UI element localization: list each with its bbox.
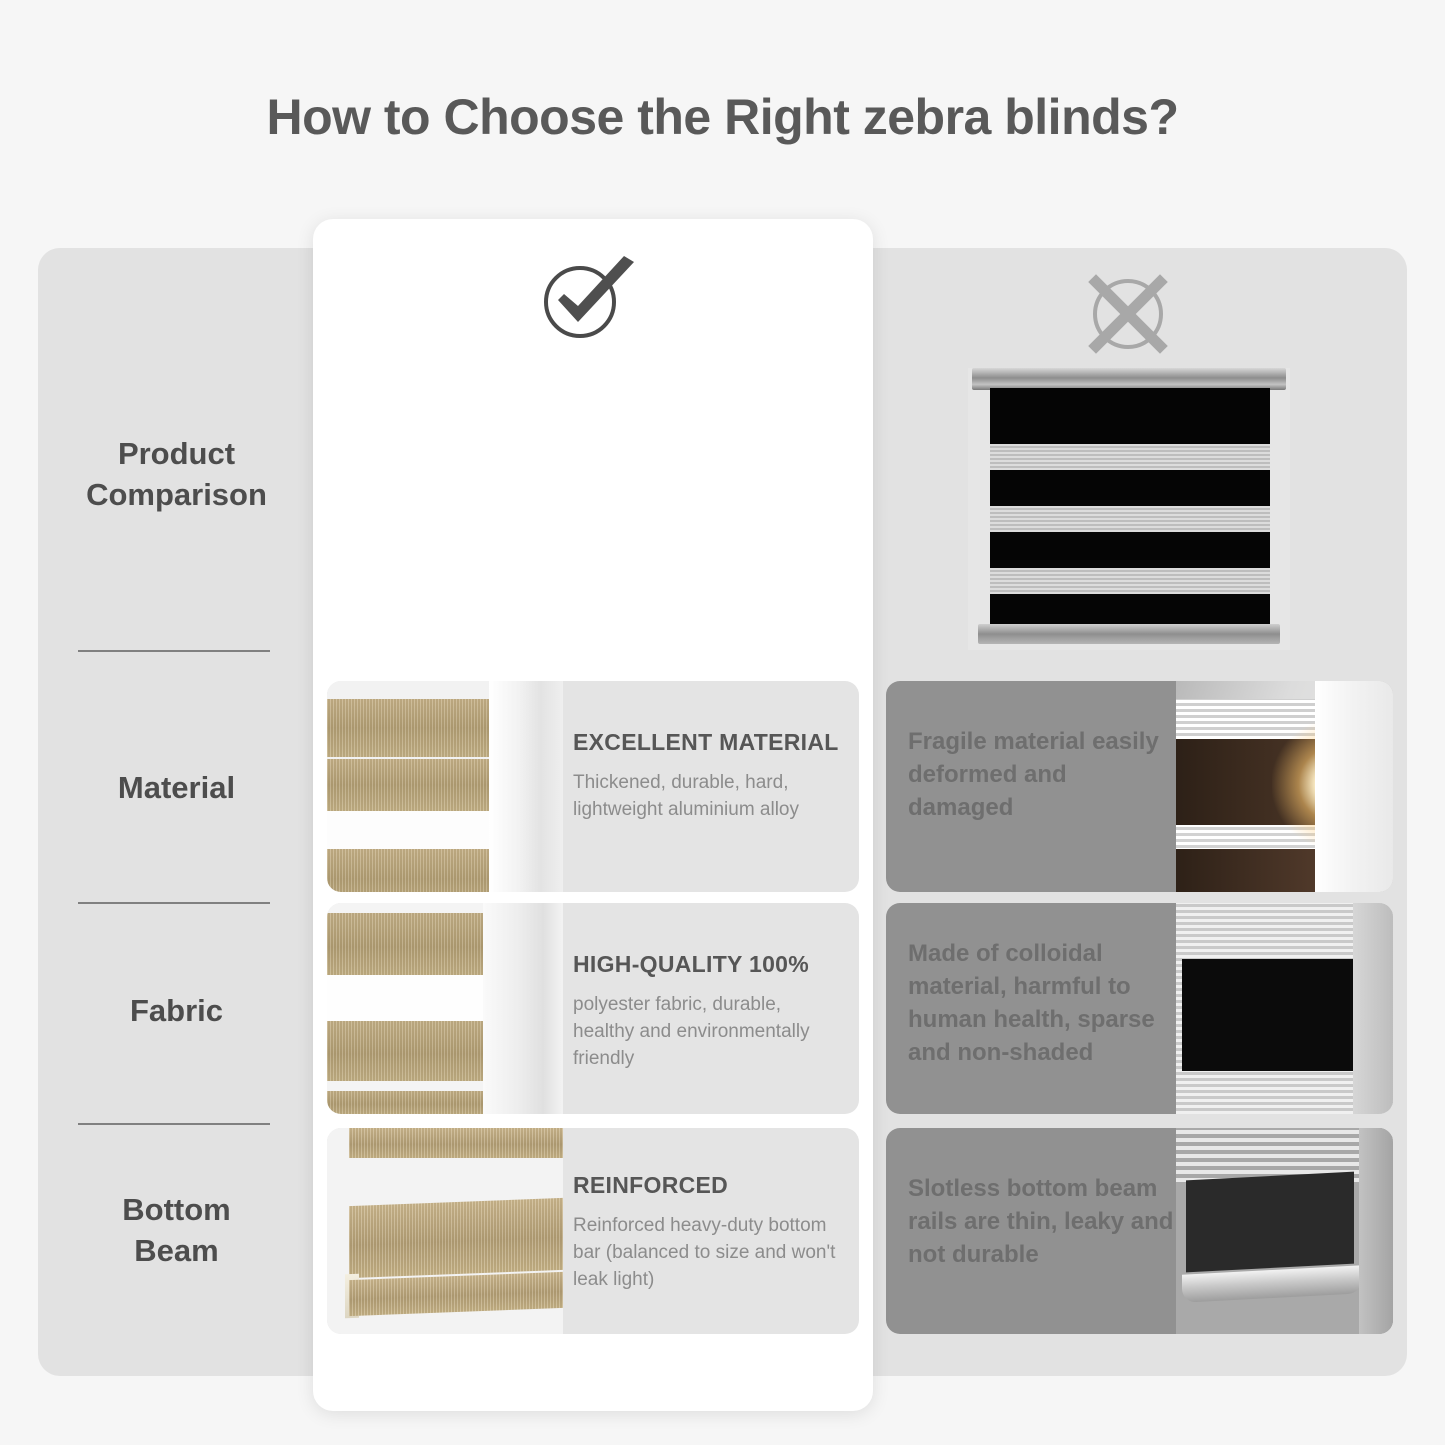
good-card-image — [327, 681, 563, 892]
bad-card-text: Made of colloidal material, harmful to h… — [908, 937, 1176, 1069]
bad-card-text: Slotless bottom beam rails are thin, lea… — [908, 1172, 1176, 1271]
row-label-fabric: Fabric — [38, 991, 315, 1032]
blind-sheer-band — [990, 444, 1270, 470]
bad-card-fabric: Made of colloidal material, harmful to h… — [886, 903, 1393, 1114]
good-card-heading: EXCELLENT MATERIAL — [573, 729, 841, 756]
page-title: How to Choose the Right zebra blinds? — [0, 88, 1445, 146]
row-divider — [78, 902, 270, 904]
row-divider — [78, 1123, 270, 1125]
row-label-line1: Material — [38, 768, 315, 809]
good-card-image — [327, 1128, 563, 1334]
row-label-line1: Fabric — [38, 991, 315, 1032]
row-label-line2: Beam — [38, 1231, 315, 1272]
bad-card-image — [1176, 681, 1393, 892]
check-circle-icon — [536, 254, 640, 342]
row-label-line2: Comparison — [38, 475, 315, 516]
blind-headrail — [972, 368, 1286, 390]
bad-hero-image — [968, 368, 1290, 650]
bad-card-bottom-beam: Slotless bottom beam rails are thin, lea… — [886, 1128, 1393, 1334]
good-card-body: Reinforced heavy-duty bottom bar (balanc… — [573, 1213, 841, 1294]
blind-sheer-band — [990, 506, 1270, 532]
row-divider — [78, 650, 270, 652]
bad-card-image — [1176, 903, 1393, 1114]
bad-card-image — [1176, 1128, 1393, 1334]
bad-card-material: Fragile material easily deformed and dam… — [886, 681, 1393, 892]
row-label-material: Material — [38, 768, 315, 809]
blind-sheer-band — [990, 568, 1270, 594]
good-card-material: EXCELLENT MATERIAL Thickened, durable, h… — [327, 681, 859, 892]
infographic-root: How to Choose the Right zebra blinds? Pr… — [0, 0, 1445, 1445]
good-card-bottom-beam: REINFORCED Reinforced heavy-duty bottom … — [327, 1128, 859, 1334]
good-card-heading: HIGH-QUALITY 100% — [573, 951, 841, 978]
row-label-bottom-beam: Bottom Beam — [38, 1190, 315, 1272]
blind-bottom-bar — [978, 624, 1280, 644]
good-card-heading: REINFORCED — [573, 1172, 841, 1199]
row-label-line1: Product — [38, 434, 315, 475]
good-card-body: Thickened, durable, hard, lightweight al… — [573, 770, 841, 824]
good-card-body: polyester fabric, durable, healthy and e… — [573, 992, 841, 1073]
row-label-line1: Bottom — [38, 1190, 315, 1231]
good-card-fabric: HIGH-QUALITY 100% polyester fabric, dura… — [327, 903, 859, 1114]
good-card-image — [327, 903, 563, 1114]
blind-fabric — [990, 388, 1270, 624]
row-label-product-comparison: Product Comparison — [38, 434, 315, 516]
bad-card-text: Fragile material easily deformed and dam… — [908, 725, 1176, 824]
cross-circle-icon — [1086, 272, 1170, 356]
